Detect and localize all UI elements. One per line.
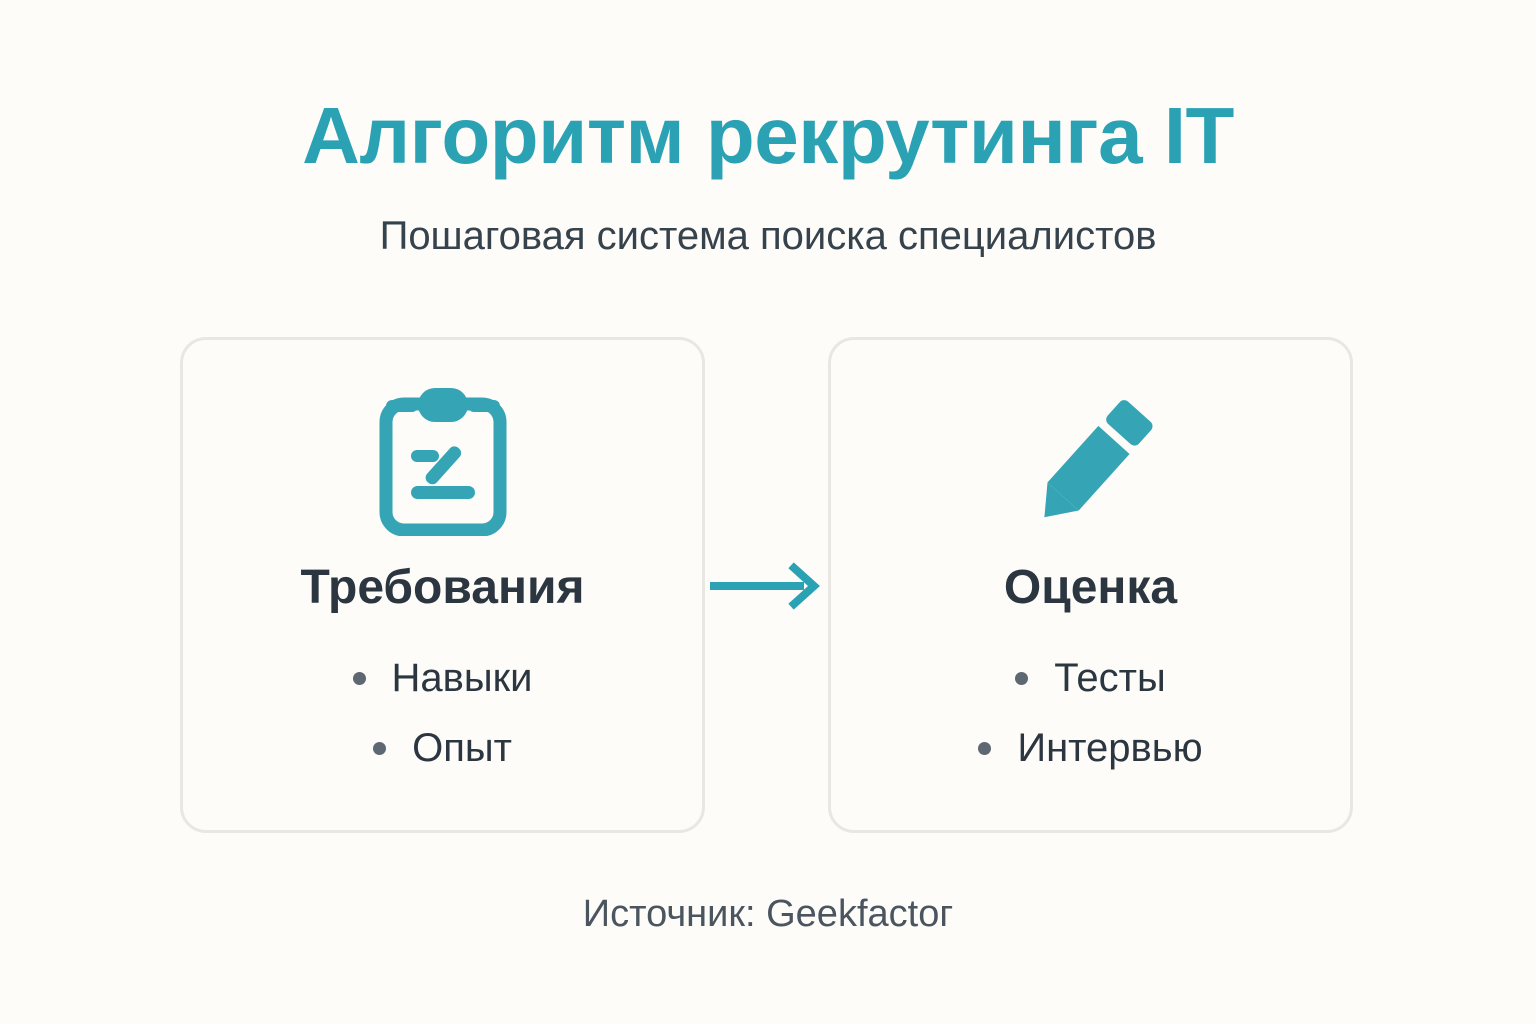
bullet-dot-icon bbox=[978, 742, 991, 755]
step-card-assessment: Оценка Тесты Интервью bbox=[828, 337, 1353, 833]
step-bullet-list: Тесты Интервью bbox=[831, 656, 1350, 770]
bullet-label: Навыки bbox=[392, 656, 533, 700]
bullet-label: Опыт bbox=[412, 726, 512, 770]
step-heading: Оценка bbox=[831, 562, 1350, 615]
clipboard-check-icon bbox=[183, 376, 702, 546]
source-attribution: Источник: Geekfactoг bbox=[0, 893, 1536, 936]
step-heading: Требования bbox=[183, 562, 702, 615]
step-bullet-list: Навыки Опыт bbox=[183, 656, 702, 770]
list-item: Опыт bbox=[373, 726, 512, 770]
step-card-requirements: Требования Навыки Опыт bbox=[180, 337, 705, 833]
bullet-label: Тесты bbox=[1054, 656, 1166, 700]
list-item: Интервью bbox=[978, 726, 1202, 770]
bullet-dot-icon bbox=[373, 742, 386, 755]
arrow-right-icon bbox=[708, 562, 822, 610]
page-title: Алгоритм рекрутинга IT bbox=[0, 96, 1536, 176]
bullet-dot-icon bbox=[1015, 672, 1028, 685]
pencil-icon bbox=[831, 376, 1350, 546]
bullet-dot-icon bbox=[353, 672, 366, 685]
page-subtitle: Пошаговая система поиска специалистов bbox=[0, 212, 1536, 260]
bullet-label: Интервью bbox=[1017, 726, 1202, 770]
list-item: Навыки bbox=[353, 656, 533, 700]
list-item: Тесты bbox=[1015, 656, 1166, 700]
